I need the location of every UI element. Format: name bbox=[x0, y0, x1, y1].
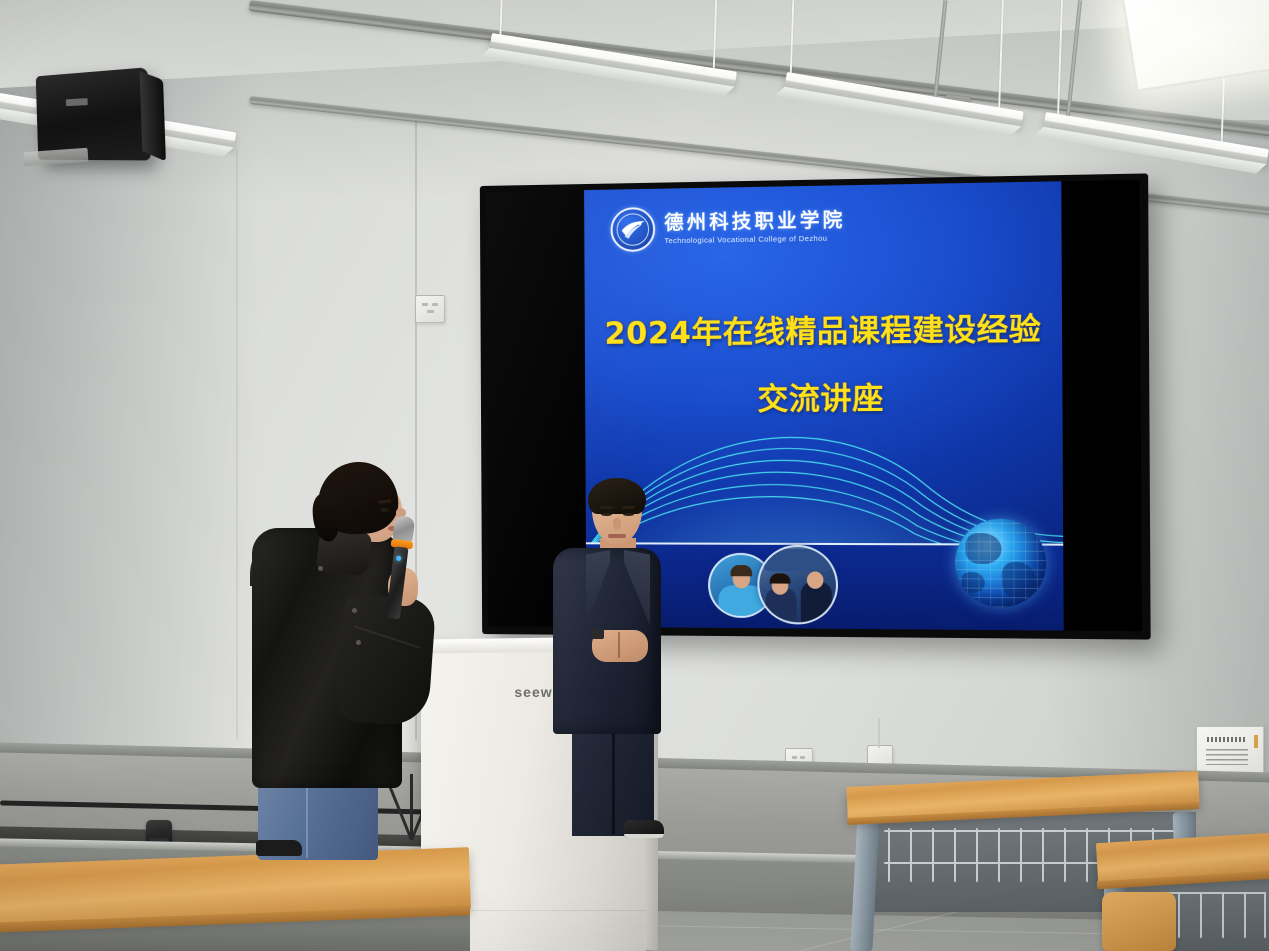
guest-eye-left bbox=[601, 513, 612, 516]
institution-name-block: 德州科技职业学院 Technological Vocational Colleg… bbox=[664, 211, 845, 245]
guest-trouser-seam bbox=[612, 718, 615, 834]
wall-seam bbox=[236, 150, 238, 740]
wall-drop-cable bbox=[878, 718, 880, 748]
info-plate-barcode bbox=[1207, 737, 1247, 742]
classroom-photo-scene: 德州科技职业学院 Technological Vocational Colleg… bbox=[0, 0, 1269, 951]
info-plate-marker bbox=[1254, 735, 1258, 748]
guest-eye-right bbox=[623, 513, 634, 516]
guest-hand-separation bbox=[618, 632, 620, 658]
institution-name-en: Technological Vocational College of Dezh… bbox=[664, 234, 845, 244]
college-emblem-icon bbox=[610, 207, 655, 252]
slide-photo-bubble-right bbox=[757, 545, 838, 625]
classroom-chair-right[interactable] bbox=[1102, 892, 1176, 951]
guest-shoe bbox=[624, 820, 664, 838]
power-socket-left-of-screen[interactable] bbox=[415, 295, 445, 323]
speaker-brand-logo bbox=[66, 98, 88, 106]
guest-eyebrow-right bbox=[622, 506, 635, 509]
institution-brand-lockup: 德州科技职业学院 Technological Vocational Colleg… bbox=[610, 204, 845, 252]
presenter-eye bbox=[380, 508, 389, 512]
info-plate-text-lines bbox=[1206, 749, 1248, 765]
slide-globe-graphic bbox=[955, 519, 1047, 608]
guest-hair bbox=[588, 478, 646, 514]
guest-eyebrow-left bbox=[600, 506, 613, 509]
presenter-jacket-button bbox=[318, 566, 323, 571]
wall-information-plate bbox=[1196, 726, 1264, 776]
presenter-jacket-button bbox=[352, 608, 357, 613]
presenter-shoe bbox=[256, 840, 302, 856]
guest-nose bbox=[613, 518, 621, 530]
guest-wristwatch bbox=[592, 629, 604, 639]
institution-name-cn: 德州科技职业学院 bbox=[664, 211, 845, 233]
wall-mounted-speaker bbox=[36, 67, 151, 160]
guest-mouth bbox=[608, 534, 626, 538]
presenter-jacket-button bbox=[356, 640, 361, 645]
